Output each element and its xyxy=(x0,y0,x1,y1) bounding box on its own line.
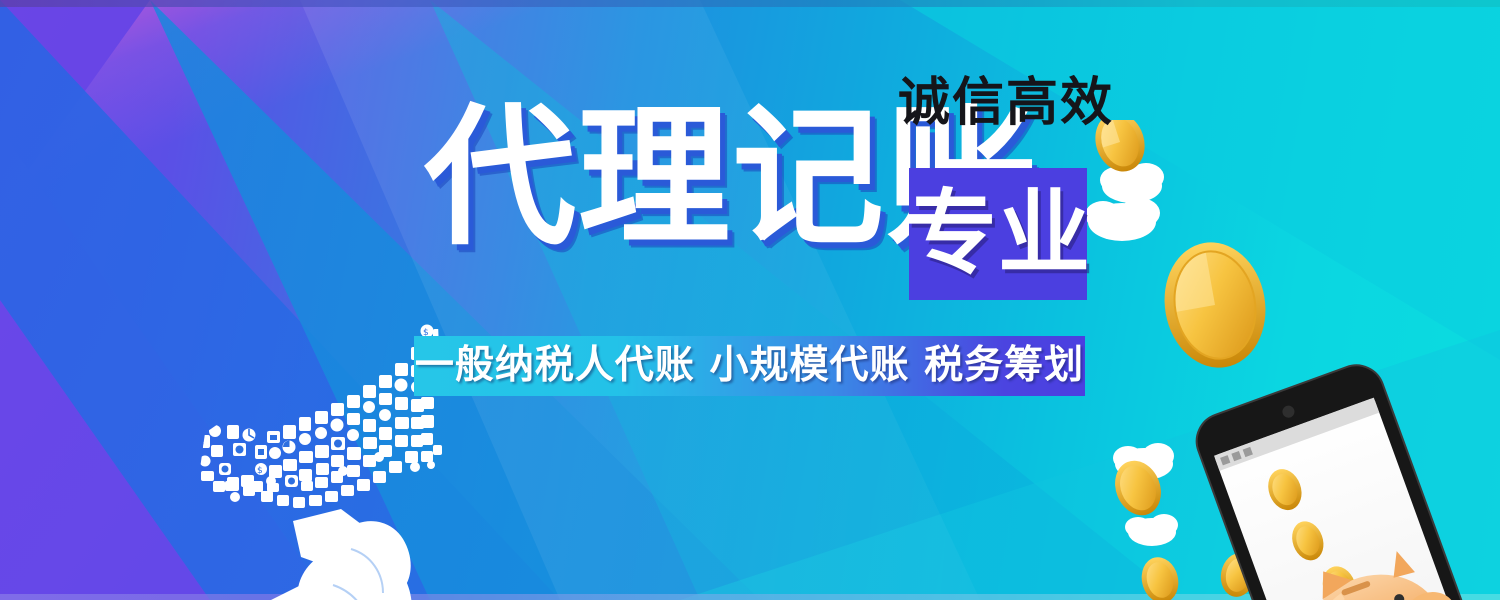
status-badge: 专业 xyxy=(909,168,1087,300)
status-badge-label: 专业 xyxy=(905,186,1091,282)
promo-banner: $ xyxy=(0,0,1500,600)
svg-text:$: $ xyxy=(257,466,263,476)
coins-phone-artwork xyxy=(1080,120,1500,600)
icon-mosaic-group: $ xyxy=(199,325,442,509)
megaphone-icon-mosaic: $ xyxy=(175,285,485,600)
megaphone-svg: $ xyxy=(175,285,485,600)
services-bar: 一般纳税人代账 小规模代账 税务筹划 xyxy=(414,336,1085,396)
top-edge-strip xyxy=(0,0,1500,7)
tagline: 诚信高效 xyxy=(898,74,1114,132)
coins-phone-svg xyxy=(1080,120,1500,600)
services-bar-label: 一般纳税人代账 小规模代账 税务筹划 xyxy=(415,344,1084,388)
